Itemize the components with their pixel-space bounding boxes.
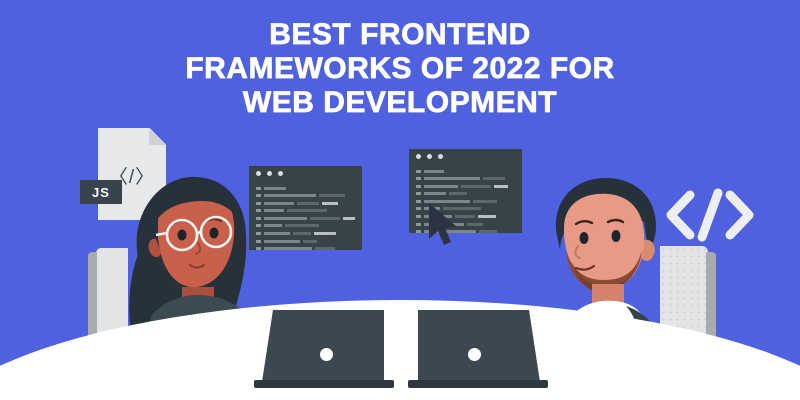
traffic-light-dot <box>416 154 421 159</box>
laptop-logo-icon <box>320 348 333 361</box>
laptop-base <box>408 380 548 388</box>
code-token <box>319 194 345 197</box>
line-number-marker <box>416 223 421 226</box>
line-number-marker <box>416 230 421 233</box>
code-token <box>483 177 505 180</box>
line-number-marker <box>416 207 421 210</box>
code-token <box>478 215 496 218</box>
illustration-canvas: BEST FRONTEND FRAMEWORKS OF 2022 FOR WEB… <box>0 0 800 400</box>
code-token <box>424 177 480 180</box>
mouse-cursor-arrow <box>427 201 461 247</box>
laptop-left <box>262 310 384 388</box>
laptop-lid <box>418 310 540 382</box>
file-fold-corner <box>149 128 166 145</box>
code-token <box>343 217 355 220</box>
code-line <box>416 184 515 188</box>
code-line <box>416 192 515 196</box>
title-line-1: BEST FRONTEND <box>0 18 800 52</box>
line-number-marker <box>416 192 421 195</box>
laptop-lid <box>262 310 384 382</box>
laptop-logo-icon <box>468 348 481 361</box>
line-number-marker <box>416 170 421 173</box>
traffic-light-dot <box>427 154 432 159</box>
line-number-marker <box>416 215 421 218</box>
line-number-marker <box>416 185 421 188</box>
code-line <box>416 177 515 181</box>
laptop-base <box>254 380 394 388</box>
title-line-2: FRAMEWORKS OF 2022 FOR <box>0 52 800 86</box>
title-line-3: WEB DEVELOPMENT <box>0 86 800 120</box>
code-token <box>424 185 458 188</box>
line-number-marker <box>416 200 421 203</box>
code-token <box>315 247 335 250</box>
code-token <box>424 170 444 173</box>
code-token <box>424 192 446 195</box>
code-token <box>473 200 497 203</box>
code-token <box>479 230 497 233</box>
page-title: BEST FRONTEND FRAMEWORKS OF 2022 FOR WEB… <box>0 18 800 120</box>
code-token <box>322 202 338 205</box>
code-line <box>416 169 515 173</box>
line-number-marker <box>416 177 421 180</box>
desk-front-edge <box>0 378 800 400</box>
traffic-light-dot <box>438 154 443 159</box>
code-token <box>467 223 483 226</box>
code-window-right <box>409 149 522 233</box>
code-token <box>314 232 336 235</box>
code-token <box>449 192 467 195</box>
code-token <box>461 185 491 188</box>
laptop-right <box>418 310 540 388</box>
window-title-bar <box>409 149 522 164</box>
code-token <box>494 185 508 188</box>
